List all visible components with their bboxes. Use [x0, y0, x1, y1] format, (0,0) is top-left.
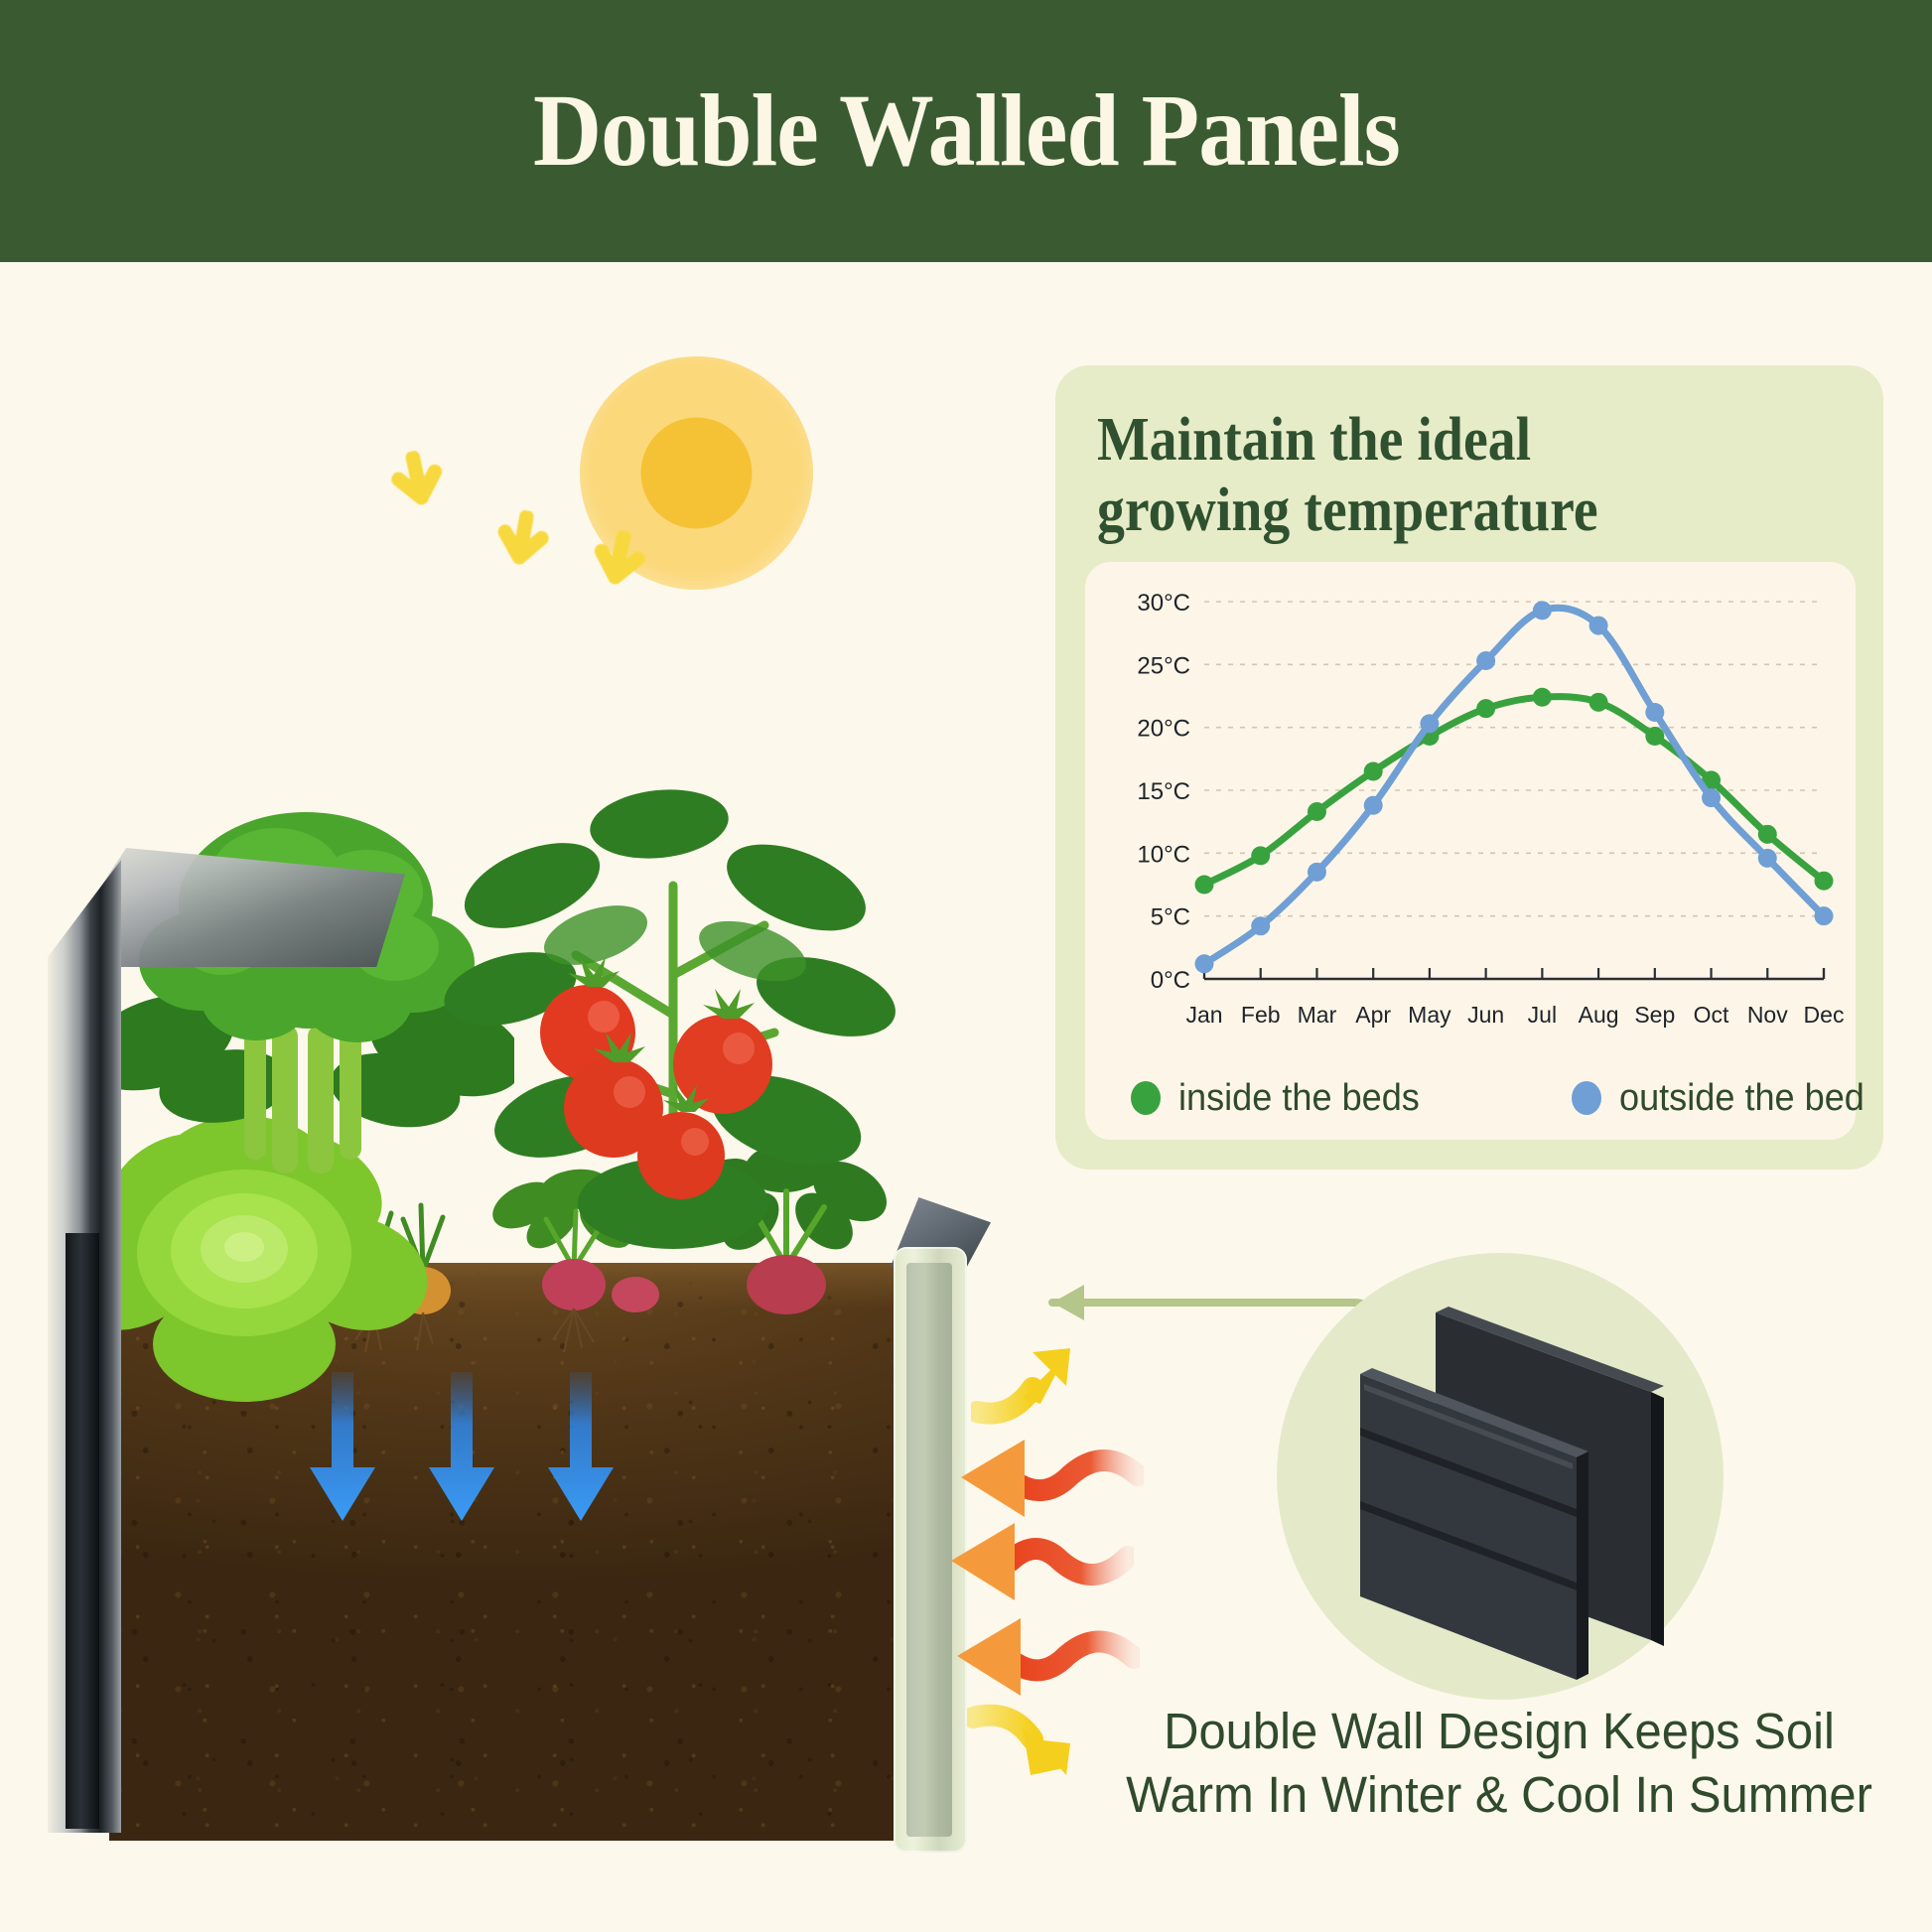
heat-arrow-yellow-down — [967, 1700, 1092, 1783]
sunlight-arrow-2 — [486, 505, 558, 577]
infographic-page: Double Walled Panels — [0, 0, 1932, 1932]
svg-text:Nov: Nov — [1747, 1002, 1788, 1028]
chart-point — [1758, 825, 1777, 844]
soil-drainage-arrow-2 — [425, 1372, 498, 1539]
heat-arrow-yellow-up — [971, 1342, 1096, 1426]
svg-text:Jan: Jan — [1185, 1002, 1222, 1028]
svg-text:10°C: 10°C — [1137, 841, 1190, 868]
temperature-chart-card: Maintain the ideal growing temperature 0… — [1055, 365, 1883, 1170]
soil-drainage-arrow-3 — [544, 1372, 618, 1539]
chart-point — [1533, 688, 1552, 707]
panel-caption: Double Wall Design Keeps Soil Warm In Wi… — [1099, 1700, 1899, 1828]
chart-series-group — [1195, 601, 1834, 973]
chart-line-outside — [1195, 601, 1834, 973]
chart-point — [1645, 703, 1664, 722]
chart-point — [1758, 849, 1777, 868]
svg-text:Mar: Mar — [1298, 1002, 1337, 1028]
chart-point — [1476, 699, 1495, 718]
sunlight-arrow-3 — [582, 524, 655, 598]
legend-label-inside: inside the beds — [1178, 1077, 1420, 1120]
chart-gridlines — [1204, 602, 1824, 916]
panel-caption-line2: Warm In Winter & Cool In Summer — [1126, 1766, 1872, 1823]
chart-point — [1702, 788, 1721, 807]
legend-label-outside: outside the bed — [1619, 1077, 1864, 1120]
svg-text:Jun: Jun — [1467, 1002, 1504, 1028]
chart-point — [1308, 802, 1326, 821]
heat-arrow-orange-1 — [955, 1430, 1144, 1525]
chart-point — [1420, 714, 1439, 733]
chart-point — [1589, 693, 1608, 712]
chart-point — [1476, 651, 1495, 670]
page-title: Double Walled Panels — [533, 79, 1400, 183]
svg-text:30°C: 30°C — [1137, 590, 1190, 617]
chart-heading-line1: Maintain the ideal — [1097, 406, 1531, 474]
legend-dot-outside — [1572, 1081, 1601, 1115]
double-wall-panel-illustration — [1269, 1253, 1882, 1700]
chart-point — [1815, 872, 1834, 891]
chart-point — [1645, 727, 1664, 746]
legend-item-inside[interactable]: inside the beds — [1131, 1077, 1433, 1120]
chart-axis — [1204, 968, 1824, 979]
svg-text:0°C: 0°C — [1151, 967, 1190, 994]
chart-point — [1308, 863, 1326, 882]
svg-text:Feb: Feb — [1241, 1002, 1281, 1028]
heat-arrow-orange-2 — [945, 1517, 1134, 1612]
temperature-line-chart: 0°C5°C10°C15°C20°C25°C30°C JanFebMarAprM… — [1085, 562, 1856, 1058]
legend-dot-inside — [1131, 1081, 1161, 1115]
svg-text:20°C: 20°C — [1137, 716, 1190, 743]
garden-bed-scene — [0, 262, 1023, 1932]
chart-y-axis-labels: 0°C5°C10°C15°C20°C25°C30°C — [1137, 590, 1190, 994]
chart-card-heading: Maintain the ideal growing temperature — [1097, 405, 1758, 545]
chart-x-axis-labels: JanFebMarAprMayJunJulAugSepOctNovDec — [1185, 1002, 1844, 1028]
svg-text:Jul: Jul — [1528, 1002, 1557, 1028]
svg-text:Oct: Oct — [1694, 1002, 1729, 1028]
chart-point — [1251, 846, 1270, 865]
svg-text:5°C: 5°C — [1151, 904, 1190, 931]
svg-text:Aug: Aug — [1579, 1002, 1619, 1028]
chart-legend: inside the beds outside the bed — [1085, 1056, 1856, 1140]
bed-left-wall-cavity — [66, 1233, 99, 1829]
chart-point — [1364, 796, 1383, 815]
svg-text:15°C: 15°C — [1137, 778, 1190, 805]
chart-point — [1195, 954, 1214, 973]
chart-point — [1195, 876, 1214, 895]
svg-text:25°C: 25°C — [1137, 652, 1190, 679]
panel-caption-line1: Double Wall Design Keeps Soil — [1164, 1703, 1835, 1759]
chart-inner-card: 0°C5°C10°C15°C20°C25°C30°C JanFebMarAprM… — [1085, 562, 1856, 1140]
chart-point — [1251, 916, 1270, 935]
chart-point — [1589, 617, 1608, 635]
chart-point — [1364, 762, 1383, 781]
chart-point — [1533, 601, 1552, 620]
chart-heading-line2: growing temperature — [1097, 477, 1598, 544]
legend-item-outside[interactable]: outside the bed — [1572, 1077, 1877, 1120]
double-wall-panel-badge — [1269, 1253, 1882, 1700]
svg-text:Apr: Apr — [1355, 1002, 1391, 1028]
chart-point — [1815, 906, 1834, 925]
sun-disc — [641, 418, 753, 529]
page-header: Double Walled Panels — [0, 0, 1932, 262]
svg-text:Sep: Sep — [1634, 1002, 1675, 1028]
svg-text:May: May — [1408, 1002, 1451, 1028]
heat-arrow-orange-3 — [951, 1604, 1140, 1700]
tomato-plant — [437, 766, 903, 1283]
raised-garden-bed — [48, 766, 971, 1851]
sunlight-arrow-1 — [381, 445, 455, 518]
svg-text:Dec: Dec — [1804, 1002, 1845, 1028]
